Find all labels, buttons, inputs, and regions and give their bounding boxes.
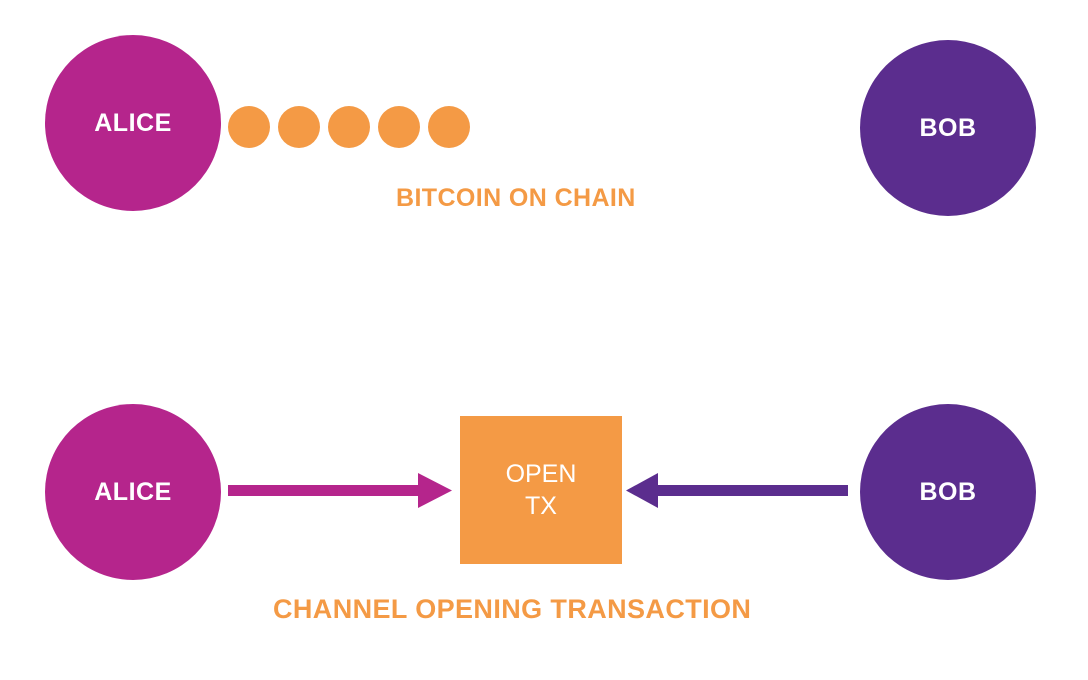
node-alice-top-label: ALICE [94, 109, 172, 138]
node-bob-top: BOB [860, 40, 1036, 216]
open-tx-line-2: TX [525, 490, 557, 522]
open-tx-line-1: OPEN [506, 458, 577, 490]
bitcoin-coin-icon [278, 106, 320, 148]
node-alice-bottom-label: ALICE [94, 478, 172, 507]
node-alice-bottom: ALICE [45, 404, 221, 580]
bitcoin-coin-icon [428, 106, 470, 148]
node-alice-top: ALICE [45, 35, 221, 211]
bitcoin-coin-icon [378, 106, 420, 148]
caption-bitcoin-on-chain: BITCOIN ON CHAIN [396, 184, 636, 213]
bitcoin-coin-icon [228, 106, 270, 148]
bitcoin-coin-row [228, 106, 470, 148]
caption-channel-opening-transaction: CHANNEL OPENING TRANSACTION [273, 594, 751, 625]
node-bob-bottom: BOB [860, 404, 1036, 580]
node-bob-top-label: BOB [919, 114, 976, 143]
node-bob-bottom-label: BOB [919, 478, 976, 507]
arrow-bob-to-open-tx-icon [626, 466, 848, 516]
open-tx-box: OPEN TX [460, 416, 622, 564]
bitcoin-coin-icon [328, 106, 370, 148]
arrow-alice-to-open-tx-icon [228, 466, 452, 516]
diagram-canvas: ALICE BOB BITCOIN ON CHAIN ALICE OPEN TX… [0, 0, 1088, 680]
